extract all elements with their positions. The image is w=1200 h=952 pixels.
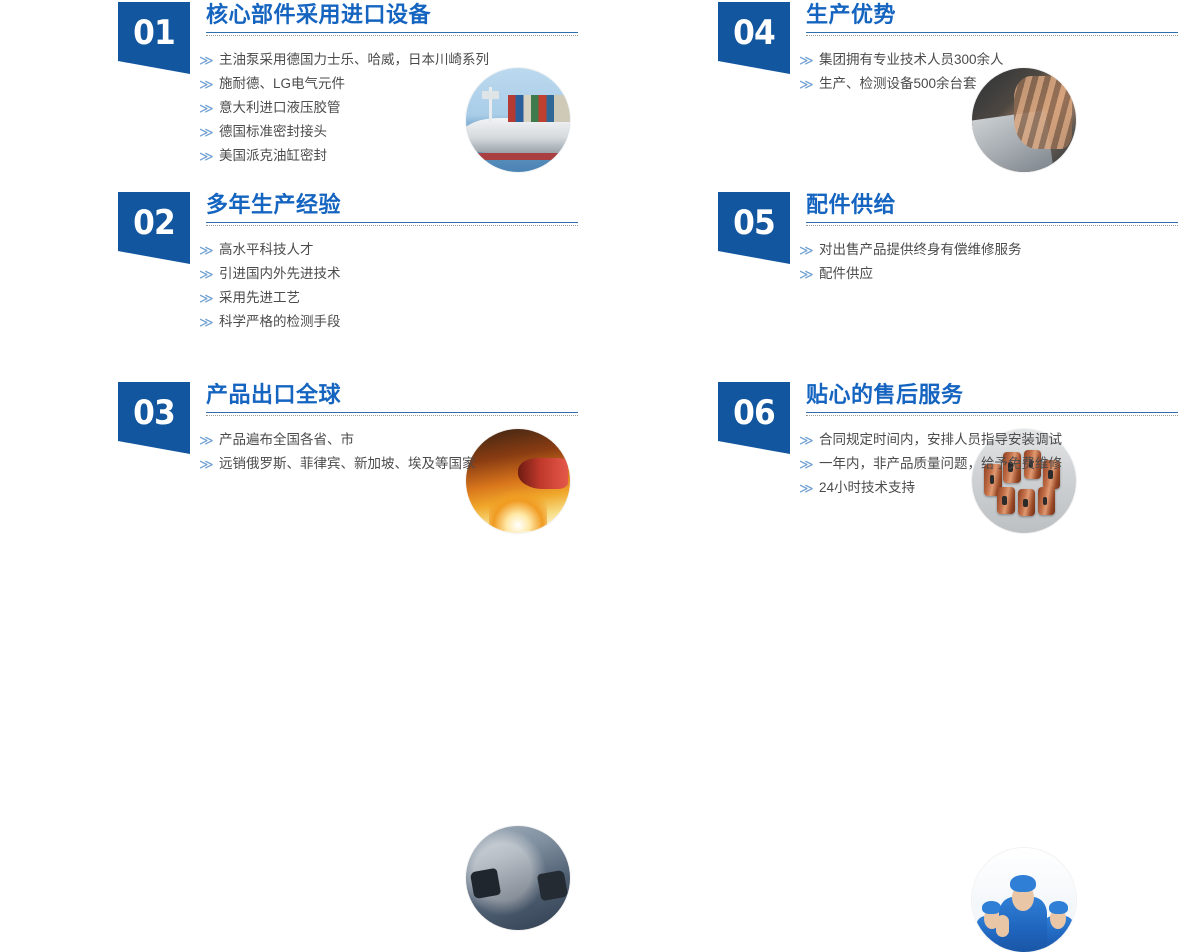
feature-bullet-list-05: ≫对出售产品提供终身有偿维修服务 ≫配件供应 <box>797 238 1187 286</box>
feature-number-05: 05 <box>721 192 787 254</box>
title-rule-dotted <box>206 225 578 226</box>
list-item: ≫合同规定时间内，安排人员指导安装调试 <box>797 428 1187 452</box>
title-rule-dotted <box>806 225 1178 226</box>
double-chevron-icon: ≫ <box>799 48 814 72</box>
list-item-text: 24小时技术支持 <box>819 480 915 495</box>
feature-number-06: 06 <box>721 382 787 444</box>
list-item-text: 一年内，非产品质量问题，给予免费维修 <box>819 456 1062 471</box>
list-item-text: 生产、检测设备500余台套 <box>819 76 977 91</box>
feature-heading-04: 生产优势 <box>806 0 1178 36</box>
list-item: ≫配件供应 <box>797 262 1187 286</box>
list-item-text: 对出售产品提供终身有偿维修服务 <box>819 242 1022 257</box>
double-chevron-icon: ≫ <box>799 428 814 452</box>
handshake-globe-photo <box>466 826 570 930</box>
thumbs-up-icon <box>996 915 1009 937</box>
title-rule-solid <box>806 222 1178 223</box>
features-board: 01 核心部件采用进口设备 ≫主油泵采用德国力士乐、哈威，日本川崎系列 ≫施耐德… <box>0 0 1200 609</box>
list-item: ≫引进国内外先进技术 <box>197 262 587 286</box>
feature-number-02: 02 <box>121 192 187 254</box>
worker-center <box>999 867 1047 952</box>
list-item: ≫对出售产品提供终身有偿维修服务 <box>797 238 1187 262</box>
list-item-text: 施耐德、LG电气元件 <box>219 76 345 91</box>
title-rule-solid <box>206 32 578 33</box>
list-item: ≫远销俄罗斯、菲律宾、新加坡、埃及等国家 <box>197 452 587 476</box>
feature-card-04: 04 生产优势 ≫集团拥有专业技术人员300余人 ≫生产、检测设备500余台套 <box>600 0 1200 190</box>
title-rule-solid <box>206 222 578 223</box>
double-chevron-icon: ≫ <box>199 286 214 310</box>
feature-title-05: 配件供给 <box>806 190 1178 220</box>
worker-right <box>1043 894 1074 952</box>
features-column-left: 01 核心部件采用进口设备 ≫主油泵采用德国力士乐、哈威，日本川崎系列 ≫施耐德… <box>0 0 600 609</box>
feature-bullet-list-03: ≫产品遍布全国各省、市 ≫远销俄罗斯、菲律宾、新加坡、埃及等国家 <box>197 428 587 476</box>
list-item-text: 高水平科技人才 <box>219 242 314 257</box>
double-chevron-icon: ≫ <box>199 72 214 96</box>
feature-card-01: 01 核心部件采用进口设备 ≫主油泵采用德国力士乐、哈威，日本川崎系列 ≫施耐德… <box>0 0 600 190</box>
feature-title-02: 多年生产经验 <box>206 190 578 220</box>
feature-number-04: 04 <box>721 2 787 64</box>
double-chevron-icon: ≫ <box>799 262 814 286</box>
list-item-text: 主油泵采用德国力士乐、哈威，日本川崎系列 <box>219 52 489 67</box>
feature-number-badge-04: 04 <box>718 2 790 74</box>
double-chevron-icon: ≫ <box>199 428 214 452</box>
double-chevron-icon: ≫ <box>199 144 214 168</box>
double-chevron-icon: ≫ <box>799 72 814 96</box>
list-item-text: 美国派克油缸密封 <box>219 148 327 163</box>
list-item-text: 采用先进工艺 <box>219 290 300 305</box>
feature-heading-01: 核心部件采用进口设备 <box>206 0 578 36</box>
container-ship-photo <box>466 68 570 172</box>
title-rule-solid <box>806 32 1178 33</box>
feature-card-03: 03 产品出口全球 ≫产品遍布全国各省、市 ≫远销俄罗斯、菲律宾、新加坡、埃及等… <box>0 380 600 570</box>
feature-heading-05: 配件供给 <box>806 190 1178 226</box>
feature-heading-03: 产品出口全球 <box>206 380 578 416</box>
list-item-text: 引进国内外先进技术 <box>219 266 341 281</box>
feature-number-03: 03 <box>121 382 187 444</box>
double-chevron-icon: ≫ <box>799 452 814 476</box>
list-item-text: 产品遍布全国各省、市 <box>219 432 354 447</box>
title-rule-dotted <box>806 35 1178 36</box>
list-item-text: 德国标准密封接头 <box>219 124 327 139</box>
feature-bullet-list-02: ≫高水平科技人才 ≫引进国内外先进技术 ≫采用先进工艺 ≫科学严格的检测手段 <box>197 238 587 334</box>
double-chevron-icon: ≫ <box>199 96 214 120</box>
service-team-photo <box>972 848 1076 952</box>
feature-heading-06: 贴心的售后服务 <box>806 380 1178 416</box>
list-item-text: 配件供应 <box>819 266 873 281</box>
title-rule-dotted <box>206 415 578 416</box>
list-item: ≫一年内，非产品质量问题，给予免费维修 <box>797 452 1187 476</box>
double-chevron-icon: ≫ <box>199 262 214 286</box>
double-chevron-icon: ≫ <box>799 238 814 262</box>
list-item-text: 意大利进口液压胶管 <box>219 100 341 115</box>
features-column-right: 04 生产优势 ≫集团拥有专业技术人员300余人 ≫生产、检测设备500余台套 … <box>600 0 1200 609</box>
title-rule-solid <box>806 412 1178 413</box>
title-rule-solid <box>206 412 578 413</box>
double-chevron-icon: ≫ <box>199 238 214 262</box>
feature-number-badge-06: 06 <box>718 382 790 454</box>
feature-number-01: 01 <box>121 2 187 64</box>
double-chevron-icon: ≫ <box>199 310 214 334</box>
list-item: ≫科学严格的检测手段 <box>197 310 587 334</box>
feature-heading-02: 多年生产经验 <box>206 190 578 226</box>
double-chevron-icon: ≫ <box>799 476 814 500</box>
double-chevron-icon: ≫ <box>199 48 214 72</box>
ship-waterline <box>466 153 570 159</box>
title-rule-dotted <box>206 35 578 36</box>
list-item-text: 合同规定时间内，安排人员指导安装调试 <box>819 432 1062 447</box>
ship-mast <box>489 87 492 122</box>
feature-title-06: 贴心的售后服务 <box>806 380 1178 410</box>
sleeve-left <box>470 868 501 899</box>
list-item: ≫产品遍布全国各省、市 <box>197 428 587 452</box>
feature-card-05: 05 配件供给 ≫对出售产品提供终身有偿维修服务 ≫配件供应 <box>600 190 1200 380</box>
title-rule-dotted <box>806 415 1178 416</box>
feature-card-02: 02 多年生产经验 ≫高水平科技人才 ≫引进国内外先进技术 ≫采用先进工艺 ≫科… <box>0 190 600 380</box>
feature-title-01: 核心部件采用进口设备 <box>206 0 578 30</box>
feature-card-06: 06 贴心的售后服务 ≫合同规定时间内，安排人员指导安装调试 ≫一年内，非产品质… <box>600 380 1200 570</box>
feature-number-badge-03: 03 <box>118 382 190 454</box>
double-chevron-icon: ≫ <box>199 120 214 144</box>
list-item: ≫采用先进工艺 <box>197 286 587 310</box>
double-chevron-icon: ≫ <box>199 452 214 476</box>
list-item-text: 科学严格的检测手段 <box>219 314 341 329</box>
feature-number-badge-05: 05 <box>718 192 790 264</box>
list-item-text: 远销俄罗斯、菲律宾、新加坡、埃及等国家 <box>219 456 476 471</box>
list-item: ≫高水平科技人才 <box>197 238 587 262</box>
feature-number-badge-02: 02 <box>118 192 190 264</box>
feature-bullet-list-06: ≫合同规定时间内，安排人员指导安装调试 ≫一年内，非产品质量问题，给予免费维修 … <box>797 428 1187 500</box>
feature-number-badge-01: 01 <box>118 2 190 74</box>
sleeve-right <box>537 870 568 901</box>
feature-title-03: 产品出口全球 <box>206 380 578 410</box>
engine-assembly-photo <box>972 68 1076 172</box>
list-item-text: 集团拥有专业技术人员300余人 <box>819 52 1004 67</box>
feature-title-04: 生产优势 <box>806 0 1178 30</box>
list-item: ≫24小时技术支持 <box>797 476 1187 500</box>
